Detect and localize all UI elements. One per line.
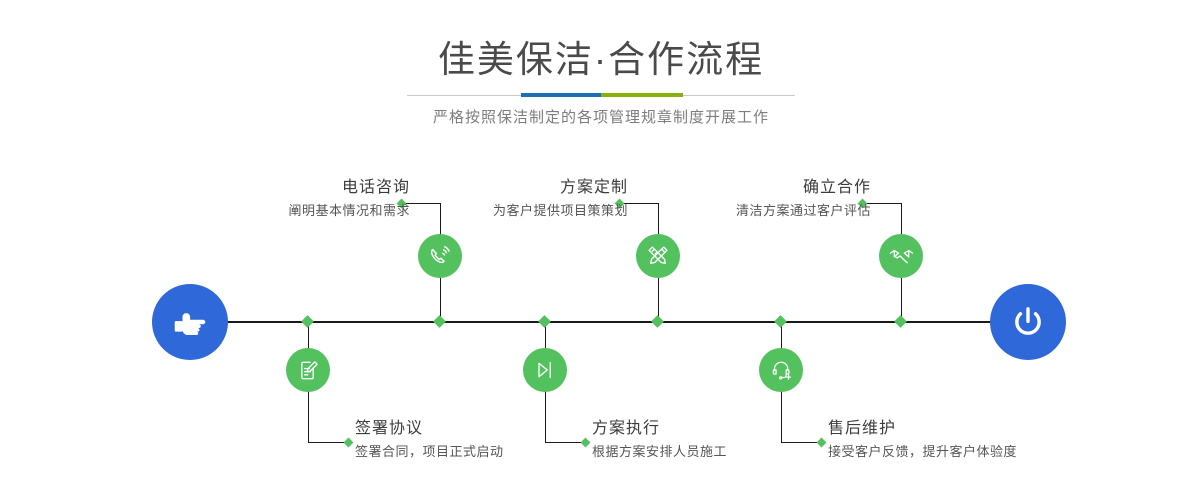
step-6-title: 售后维护 [828,419,1017,439]
step-2-desc: 签署合同，项目正式启动 [355,443,504,461]
step-4-icon-circle [523,348,567,392]
customer-service-icon [769,358,794,383]
step-5-title: 确立合作 [736,178,871,198]
step-6-elbow-horizontal [781,442,821,443]
play-to-end-icon [533,358,557,382]
step-1-icon-circle [418,234,462,278]
step-5-desc: 清洁方案通过客户评估 [736,202,871,220]
step-3-desc: 为客户提供项目策策划 [493,202,628,220]
step-5-icon-circle [879,234,923,278]
phone-call-icon [427,243,453,269]
step-4-axis-diamond [538,315,551,328]
step-4-desc: 根据方案安排人员施工 [592,443,727,461]
step-4-label-diamond [581,438,591,448]
hand-pointing-icon [170,302,210,342]
step-6-label-diamond [817,438,827,448]
step-6-icon-circle [759,348,803,392]
step-6-desc: 接受客户反馈，提升客户体验度 [828,443,1017,461]
step-5-label: 确立合作 清洁方案通过客户评估 [736,178,871,220]
step-4-title: 方案执行 [592,419,727,439]
step-5-axis-diamond [894,315,907,328]
pencil-ruler-icon [645,243,671,269]
power-icon [1007,301,1049,343]
divider-green-segment [601,93,683,97]
document-edit-icon [296,358,321,383]
header: 佳美保洁·合作流程 严格按照保洁制定的各项管理规章制度开展工作 [0,0,1202,150]
step-2-icon-circle [286,348,330,392]
step-2-elbow-horizontal [308,442,348,443]
step-3-title: 方案定制 [493,178,628,198]
step-1-title: 电话咨询 [288,178,410,198]
handshake-icon [888,243,915,270]
title-divider [0,92,1202,100]
flow-end-node [990,284,1066,360]
step-2-title: 签署协议 [355,419,504,439]
page-title: 佳美保洁·合作流程 [0,38,1202,82]
step-2-axis-diamond [301,315,314,328]
step-1-label: 电话咨询 阐明基本情况和需求 [288,178,410,220]
flow-timeline: 电话咨询 阐明基本情况和需求 签署协议 签署合同，项目正式启动 [0,150,1202,502]
cooperation-flow-infographic: 佳美保洁·合作流程 严格按照保洁制定的各项管理规章制度开展工作 [0,0,1202,502]
step-3-axis-diamond [651,315,664,328]
step-1-desc: 阐明基本情况和需求 [288,202,410,220]
step-4-elbow-horizontal [545,442,585,443]
page-subtitle: 严格按照保洁制定的各项管理规章制度开展工作 [0,106,1202,127]
step-3-label: 方案定制 为客户提供项目策策划 [493,178,628,220]
step-2-label: 签署协议 签署合同，项目正式启动 [355,419,504,461]
step-6-axis-diamond [774,315,787,328]
divider-blue-segment [521,93,601,97]
step-4-label: 方案执行 根据方案安排人员施工 [592,419,727,461]
step-3-icon-circle [636,234,680,278]
step-6-label: 售后维护 接受客户反馈，提升客户体验度 [828,419,1017,461]
flow-start-node [152,284,228,360]
step-2-label-diamond [344,438,354,448]
step-1-axis-diamond [433,315,446,328]
